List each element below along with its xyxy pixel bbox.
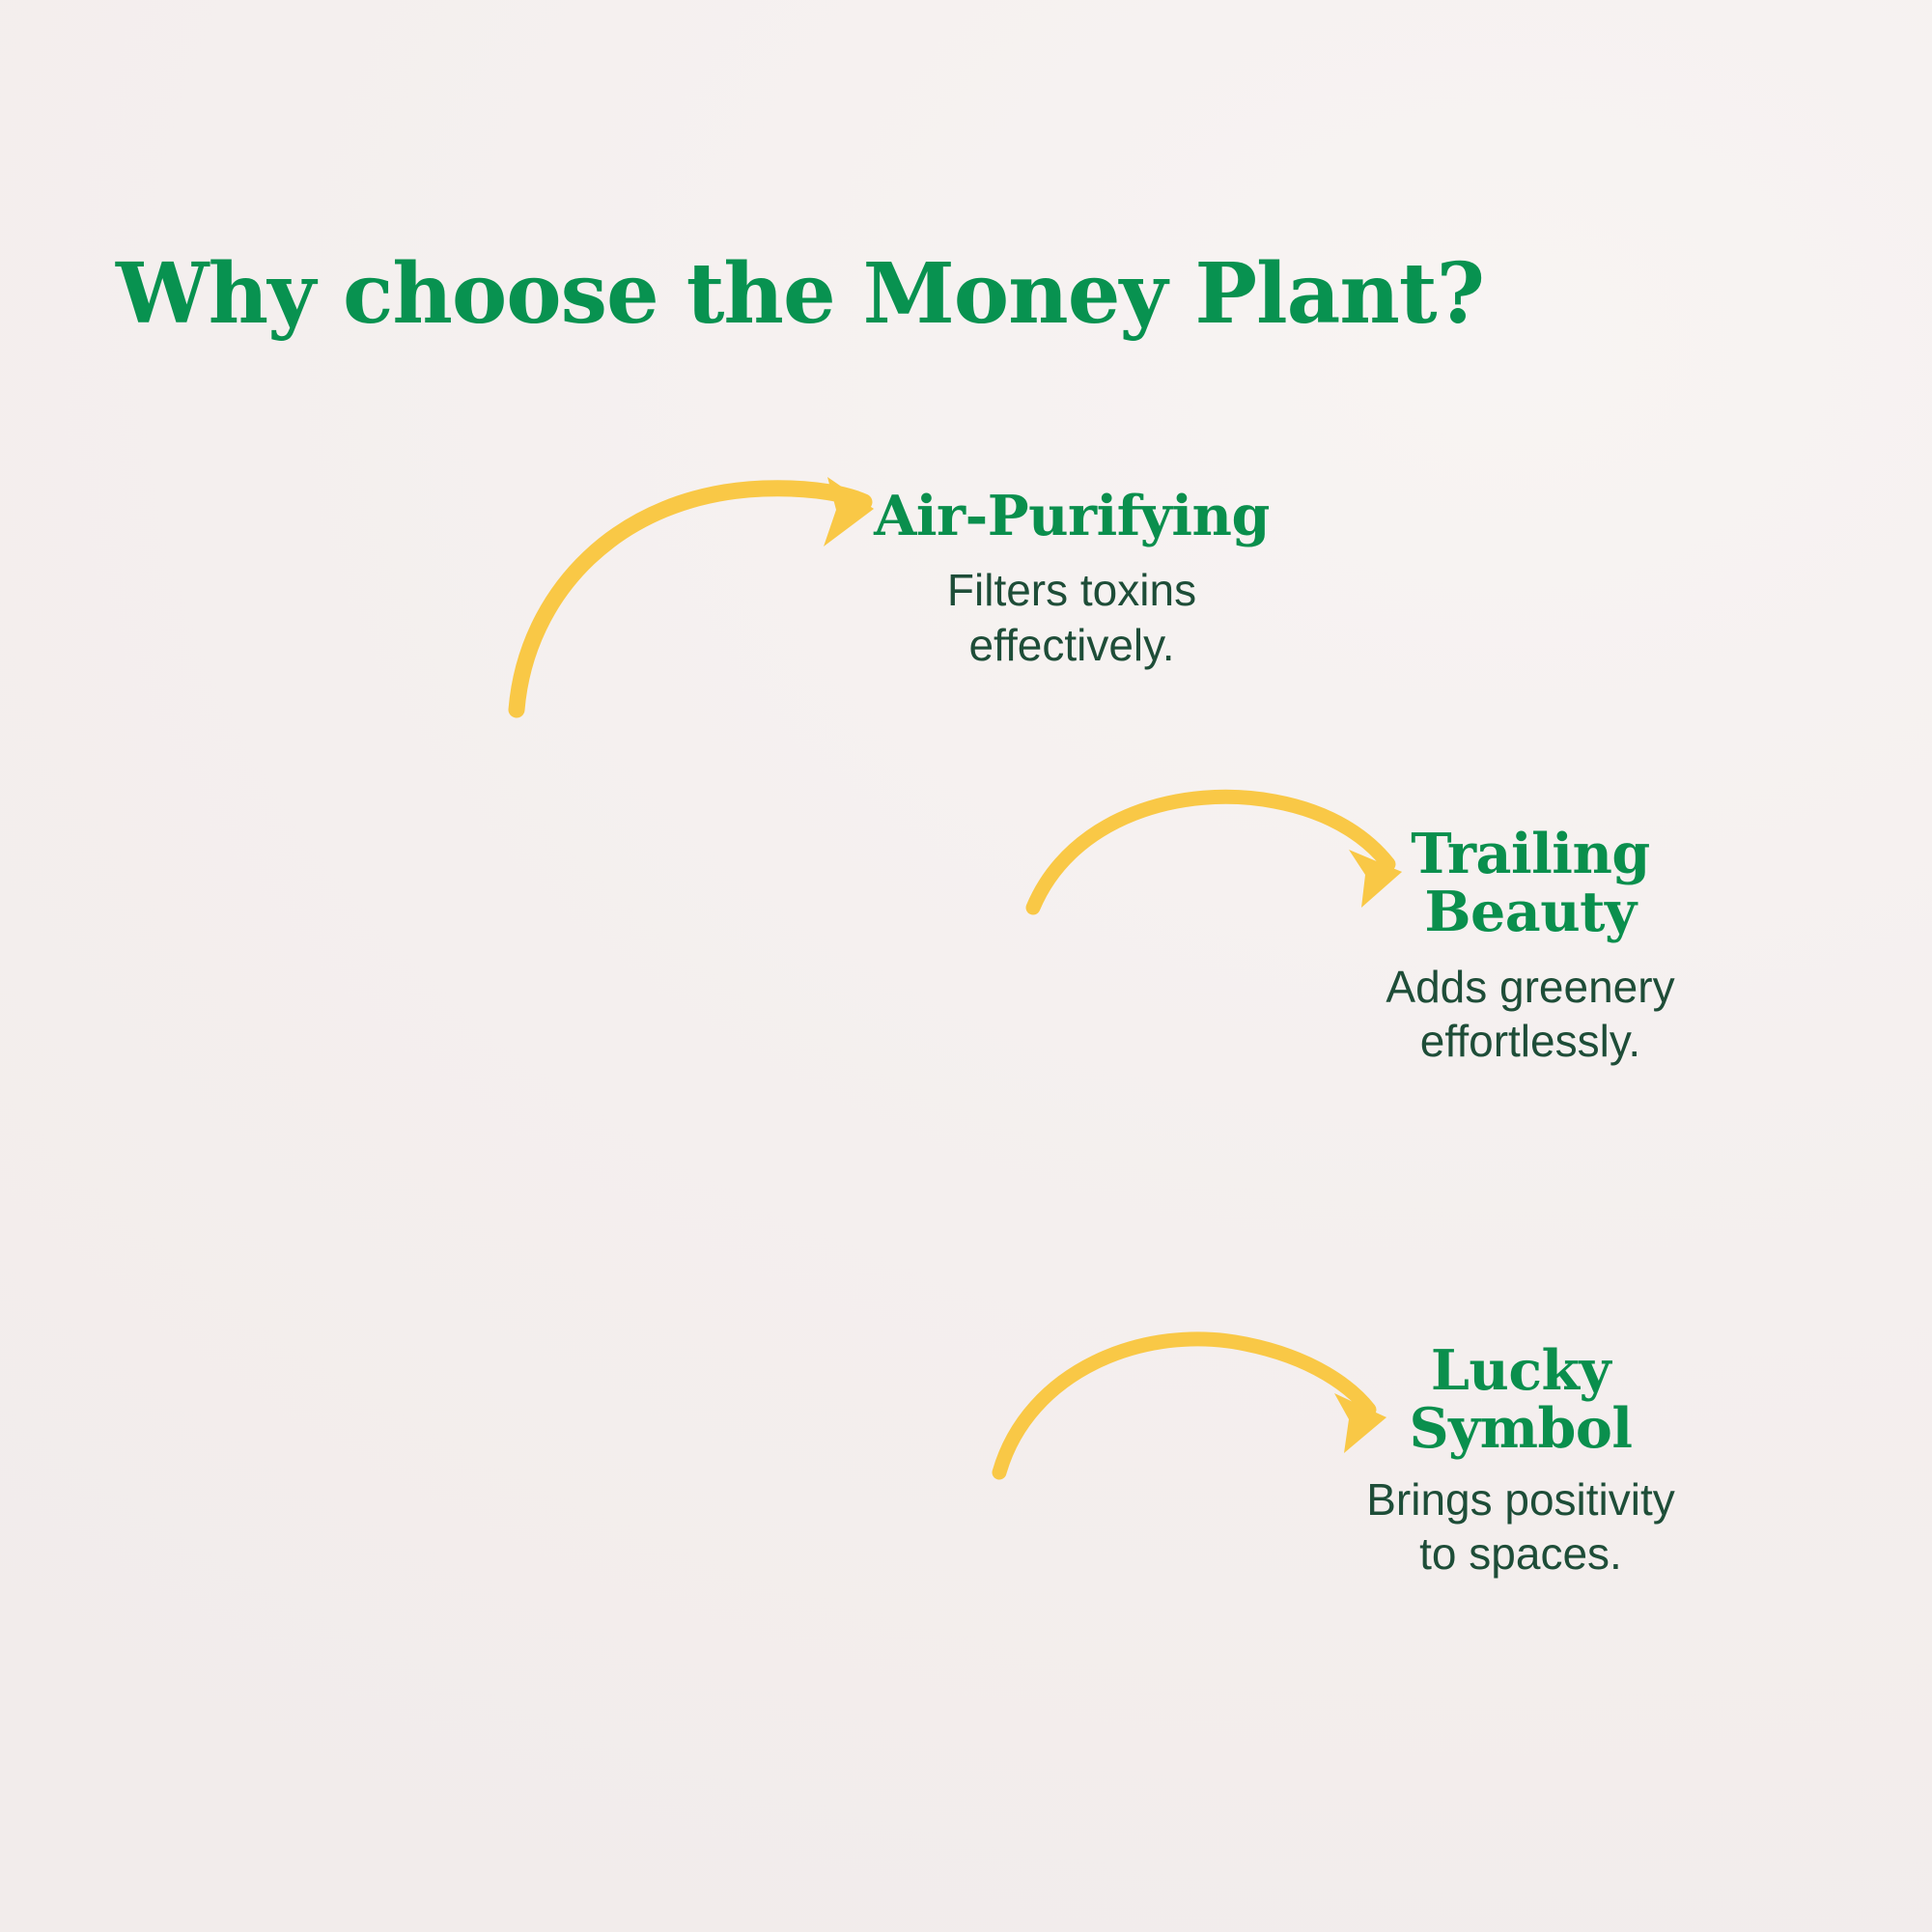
callout-trailing-beauty-heading-line-1: Trailing bbox=[1342, 826, 1719, 883]
callout-lucky-symbol: Lucky Symbol Brings positivity to spaces… bbox=[1328, 1342, 1714, 1581]
callout-trailing-beauty: Trailing Beauty Adds greenery effortless… bbox=[1342, 826, 1719, 1068]
callout-lucky-symbol-heading-line-2: Symbol bbox=[1328, 1400, 1714, 1458]
callout-lucky-symbol-body: Brings positivity to spaces. bbox=[1328, 1472, 1714, 1581]
callout-trailing-beauty-body-line-2: effortlessly. bbox=[1342, 1014, 1719, 1068]
callout-air-purifying-body-line-2: effectively. bbox=[850, 618, 1294, 672]
callout-lucky-symbol-heading-line-1: Lucky bbox=[1328, 1342, 1714, 1400]
poster-canvas: Why choose the Money Plant? Air-Purifyin… bbox=[0, 0, 1932, 1932]
callout-trailing-beauty-body-line-1: Adds greenery bbox=[1342, 960, 1719, 1014]
callout-trailing-beauty-heading: Trailing Beauty bbox=[1342, 826, 1719, 942]
callout-air-purifying-heading: Air-Purifying bbox=[850, 488, 1294, 546]
callout-lucky-symbol-body-line-1: Brings positivity bbox=[1328, 1472, 1714, 1526]
callout-air-purifying-body: Filters toxins effectively. bbox=[850, 563, 1294, 671]
callout-trailing-beauty-body: Adds greenery effortlessly. bbox=[1342, 960, 1719, 1068]
page-title: Why choose the Money Plant? bbox=[116, 245, 1484, 343]
callout-lucky-symbol-heading: Lucky Symbol bbox=[1328, 1342, 1714, 1459]
callout-trailing-beauty-heading-line-2: Beauty bbox=[1342, 883, 1719, 941]
callout-air-purifying-body-line-1: Filters toxins bbox=[850, 563, 1294, 617]
callout-air-purifying: Air-Purifying Filters toxins effectively… bbox=[850, 488, 1294, 672]
callout-lucky-symbol-body-line-2: to spaces. bbox=[1328, 1526, 1714, 1581]
